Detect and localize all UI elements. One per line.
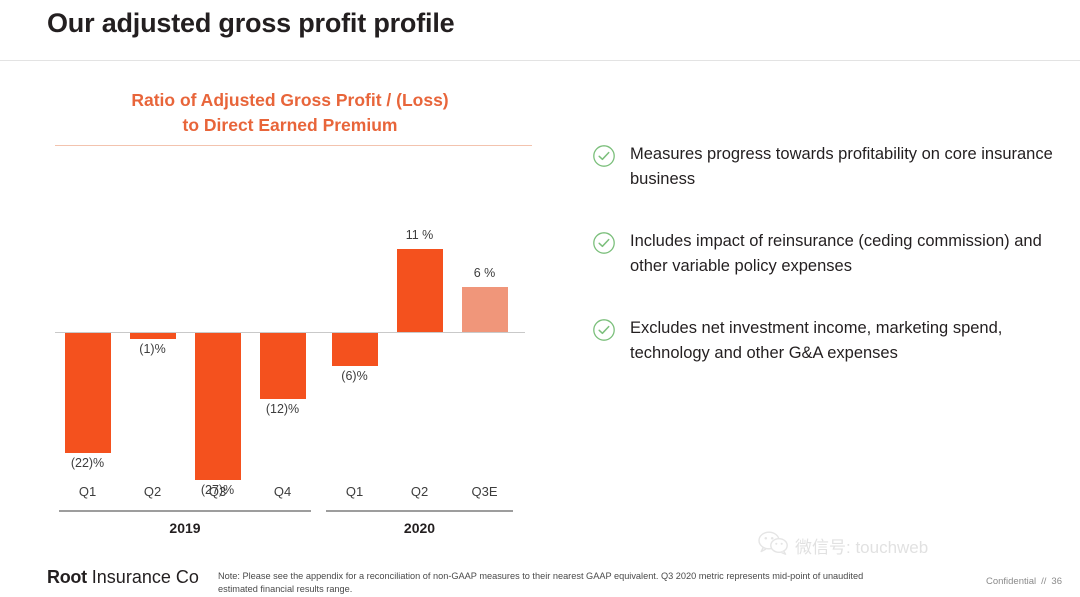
logo-suffix: Insurance Co [87, 567, 199, 587]
year-group-rule [326, 510, 513, 512]
wechat-icon [758, 531, 795, 560]
header-divider [0, 60, 1080, 61]
bar-q3-2 [195, 333, 241, 480]
bullet-text: Includes impact of reinsurance (ceding c… [630, 229, 1062, 279]
bar-value-label: (1)% [120, 342, 185, 356]
year-axis: 20192020 [55, 510, 525, 550]
year-group-2020: 2020 [326, 510, 513, 536]
bullet-list: Measures progress towards profitability … [592, 142, 1062, 403]
check-circle-icon [592, 231, 616, 255]
bar-value-label: 11 % [387, 228, 452, 242]
chart-title: Ratio of Adjusted Gross Profit / (Loss) … [55, 88, 525, 139]
check-circle-icon [592, 318, 616, 342]
category-tick-q1-0: Q1 [55, 484, 120, 499]
category-tick-q2-5: Q2 [387, 484, 452, 499]
bar-group: (1)% [120, 152, 185, 482]
footnote: Note: Please see the appendix for a reco… [218, 570, 898, 596]
chart-title-line-2: to Direct Earned Premium [55, 113, 525, 138]
bar-value-label: (6)% [322, 369, 387, 383]
category-tick-q4-3: Q4 [250, 484, 315, 499]
year-group-2019: 2019 [59, 510, 311, 536]
category-tick-q3e-6: Q3E [452, 484, 517, 499]
bullet-item-1: Measures progress towards profitability … [592, 142, 1062, 192]
bar-q2-5 [397, 249, 443, 333]
confidential-marker: Confidential//36 [986, 576, 1062, 587]
category-axis: Q1Q2Q3Q4Q1Q2Q3E [55, 484, 525, 510]
bar-q4-3 [260, 333, 306, 398]
bar-group: (12)% [250, 152, 315, 482]
chart-title-underline [55, 145, 532, 147]
page-title: Our adjusted gross profit profile [47, 8, 454, 39]
check-circle-icon [592, 144, 616, 168]
year-group-rule [59, 510, 311, 512]
category-tick-q2-1: Q2 [120, 484, 185, 499]
year-label-2020: 2020 [326, 520, 513, 536]
bullet-item-2: Includes impact of reinsurance (ceding c… [592, 229, 1062, 279]
confidential-label: Confidential [986, 576, 1036, 587]
bar-value-label: (12)% [250, 402, 315, 416]
logo-wordmark: Root [47, 567, 87, 587]
zero-baseline [55, 332, 525, 333]
bar-q3e-6 [462, 287, 508, 333]
bar-group: 6 % [452, 152, 517, 482]
bar-value-label: 6 % [452, 266, 517, 280]
bar-q1-4 [332, 333, 378, 366]
page-number: 36 [1051, 576, 1062, 587]
bullet-text: Excludes net investment income, marketin… [630, 316, 1062, 366]
bar-value-label: (22)% [55, 456, 120, 470]
confidential-separator: // [1041, 576, 1046, 587]
root-insurance-logo: Root Insurance Co [47, 567, 199, 588]
bullet-item-3: Excludes net investment income, marketin… [592, 316, 1062, 366]
bar-q2-1 [130, 333, 176, 338]
category-tick-q3-2: Q3 [185, 484, 250, 499]
bullet-text: Measures progress towards profitability … [630, 142, 1062, 192]
bar-group: (6)% [322, 152, 387, 482]
bar-q1-0 [65, 333, 111, 453]
wechat-watermark-text: 微信号: touchweb [795, 533, 928, 558]
wechat-watermark: 微信号: touchweb [758, 531, 928, 560]
chart-plot-area: (22)%(1)%(27)%(12)%(6)%11 %6 % [55, 152, 525, 482]
chart-panel: Ratio of Adjusted Gross Profit / (Loss) … [55, 88, 545, 548]
chart-title-line-1: Ratio of Adjusted Gross Profit / (Loss) [55, 88, 525, 113]
bar-group: (27)% [185, 152, 250, 482]
bar-group: (22)% [55, 152, 120, 482]
category-tick-q1-4: Q1 [322, 484, 387, 499]
bar-group: 11 % [387, 152, 452, 482]
year-label-2019: 2019 [59, 520, 311, 536]
